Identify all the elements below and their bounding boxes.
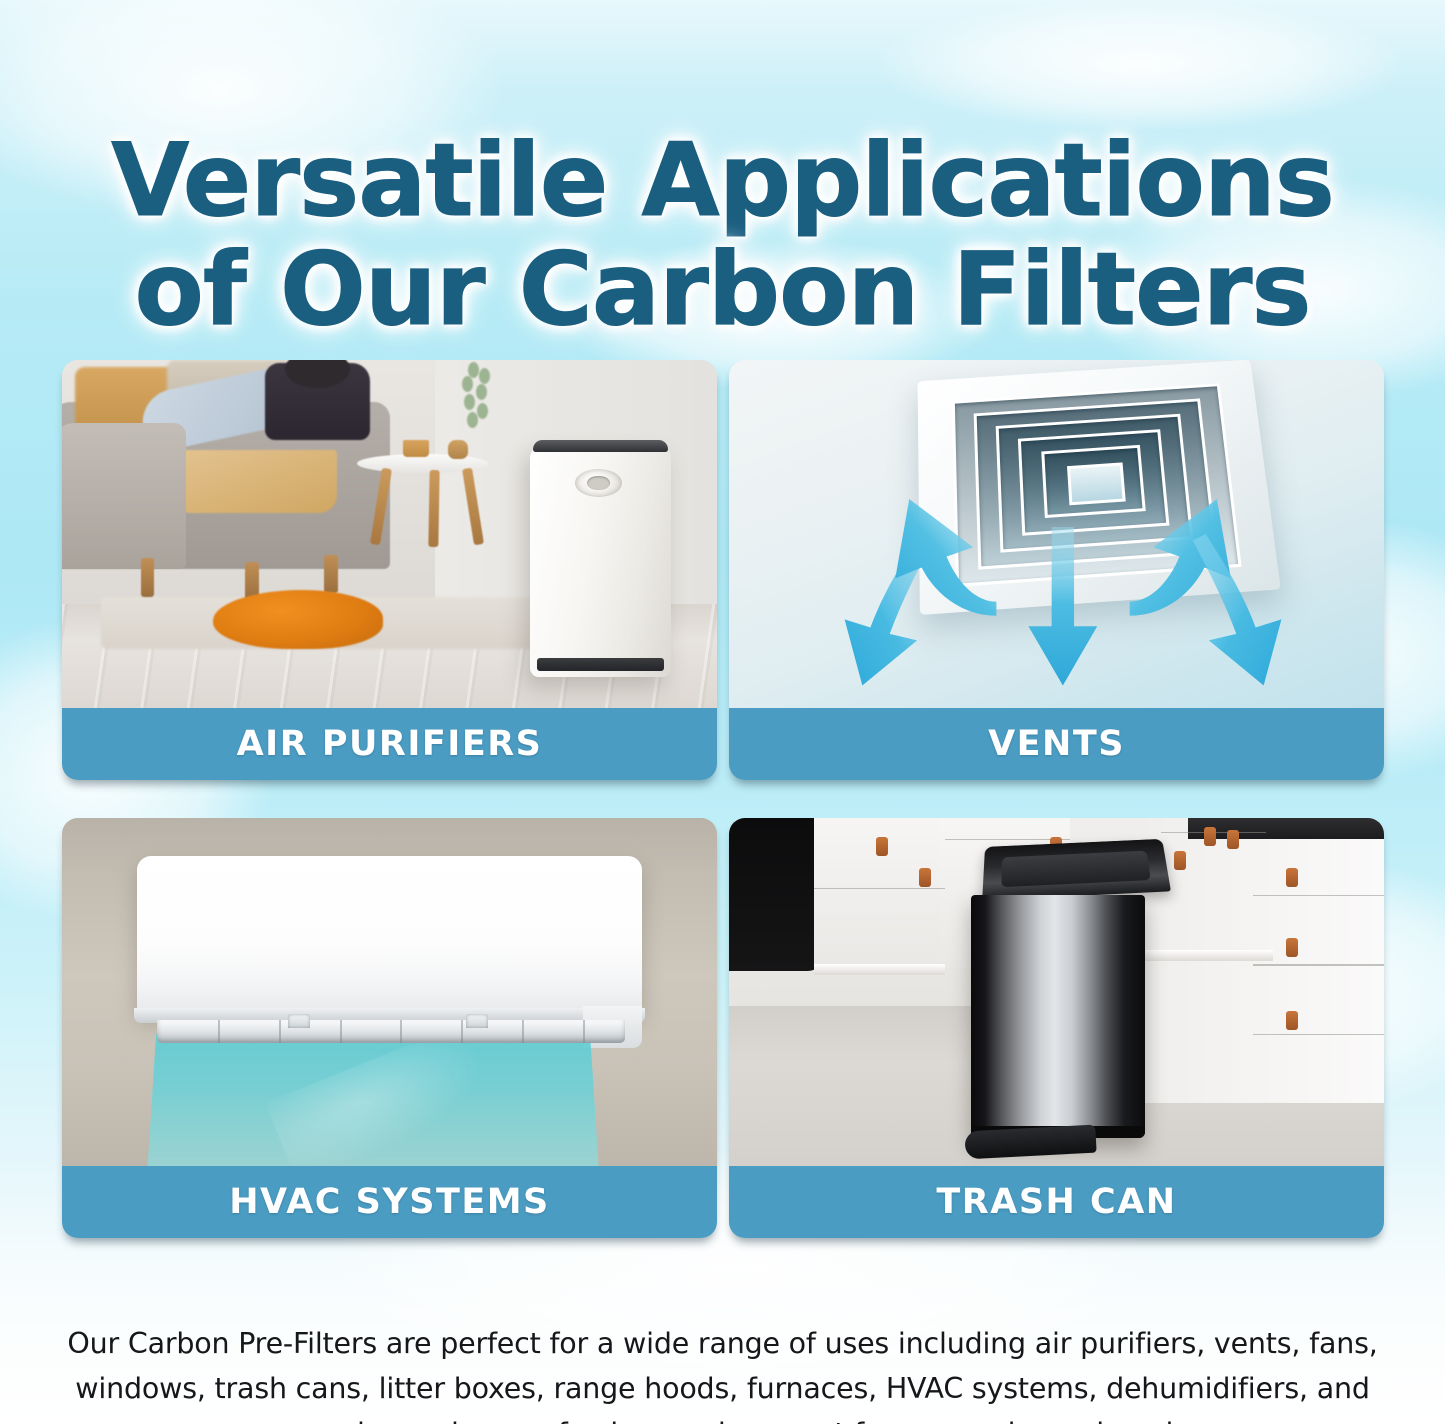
- infographic-page: Versatile Applications of Our Carbon Fil…: [0, 0, 1445, 1424]
- cabinet-knob: [919, 868, 931, 887]
- dark-appliance-left: [729, 818, 824, 971]
- air-purifier-unit: [530, 444, 671, 677]
- vane-clip: [466, 1014, 488, 1028]
- card-trash-can-image: [729, 818, 1384, 1166]
- vane-clip: [288, 1014, 310, 1028]
- cabinet-knob: [1286, 938, 1298, 957]
- ceiling-vent-scene: [729, 360, 1384, 708]
- table-leg: [428, 470, 439, 547]
- cabinet-seam: [1253, 895, 1384, 897]
- card-air-purifiers[interactable]: AIR PURIFIERS: [62, 360, 717, 780]
- cloud-decoration: [880, 0, 1400, 130]
- footer-description: Our Carbon Pre-Filters are perfect for a…: [38, 1321, 1407, 1424]
- cabinet-seam: [814, 888, 945, 890]
- air-purifier-top-grille: [533, 440, 668, 452]
- houseplant: [442, 360, 508, 450]
- card-trash-can[interactable]: TRASH CAN: [729, 818, 1384, 1238]
- cabinet-seam: [1253, 964, 1384, 966]
- cabinet-knob: [1286, 1011, 1298, 1030]
- sofa-armrest: [62, 423, 186, 569]
- coffee-cup: [403, 440, 429, 457]
- vase: [448, 440, 468, 459]
- trash-can-lid-inner: [1002, 851, 1151, 887]
- toe-kick-right: [1142, 950, 1273, 961]
- airflow-arrow-far-right-icon: [1174, 534, 1305, 687]
- living-room-scene: [62, 360, 717, 708]
- cabinet-knob: [1286, 868, 1298, 887]
- airflow-arrow-left-icon: [873, 485, 1017, 617]
- card-trash-can-caption: TRASH CAN: [729, 1166, 1384, 1238]
- card-air-purifiers-image: [62, 360, 717, 708]
- trash-can-body: [971, 895, 1145, 1139]
- countertop-right: [1188, 818, 1385, 839]
- sofa-leg: [324, 555, 338, 593]
- card-vents-caption: VENTS: [729, 708, 1384, 780]
- card-air-purifiers-caption: AIR PURIFIERS: [62, 708, 717, 780]
- card-hvac-systems-caption: HVAC SYSTEMS: [62, 1166, 717, 1238]
- card-hvac-systems-image: [62, 818, 717, 1166]
- cabinet-knob: [876, 837, 888, 856]
- kitchen-scene: [729, 818, 1384, 1166]
- cabinet-knob: [1227, 830, 1239, 849]
- orange-floor-pillow: [213, 590, 383, 649]
- cabinet-seam: [1253, 1034, 1384, 1036]
- cool-airflow-stream: [147, 1034, 599, 1166]
- card-vents-image: [729, 360, 1384, 708]
- card-hvac-systems[interactable]: HVAC SYSTEMS: [62, 818, 717, 1238]
- page-title-line-1: Versatile Applications: [0, 126, 1445, 235]
- mini-split-ac-unit: [137, 856, 641, 1013]
- mini-split-louver-vane: [157, 1020, 625, 1044]
- air-purifier-base-intake: [537, 658, 664, 671]
- application-card-grid: AIR PURIFIERS: [62, 360, 1384, 1250]
- throw-blanket: [180, 450, 337, 513]
- page-title: Versatile Applications of Our Carbon Fil…: [0, 126, 1445, 344]
- toe-kick-left: [814, 964, 945, 975]
- airflow-arrow-center-icon: [1017, 527, 1109, 687]
- air-purifier-power-button: [575, 469, 621, 497]
- cabinet-knob: [1174, 851, 1186, 870]
- sofa-leg: [141, 558, 155, 596]
- cabinet-knob: [1204, 827, 1216, 846]
- page-title-line-2: of Our Carbon Filters: [0, 235, 1445, 344]
- trash-can-lid: [983, 839, 1172, 901]
- hvac-scene: [62, 818, 717, 1166]
- card-vents[interactable]: VENTS: [729, 360, 1384, 780]
